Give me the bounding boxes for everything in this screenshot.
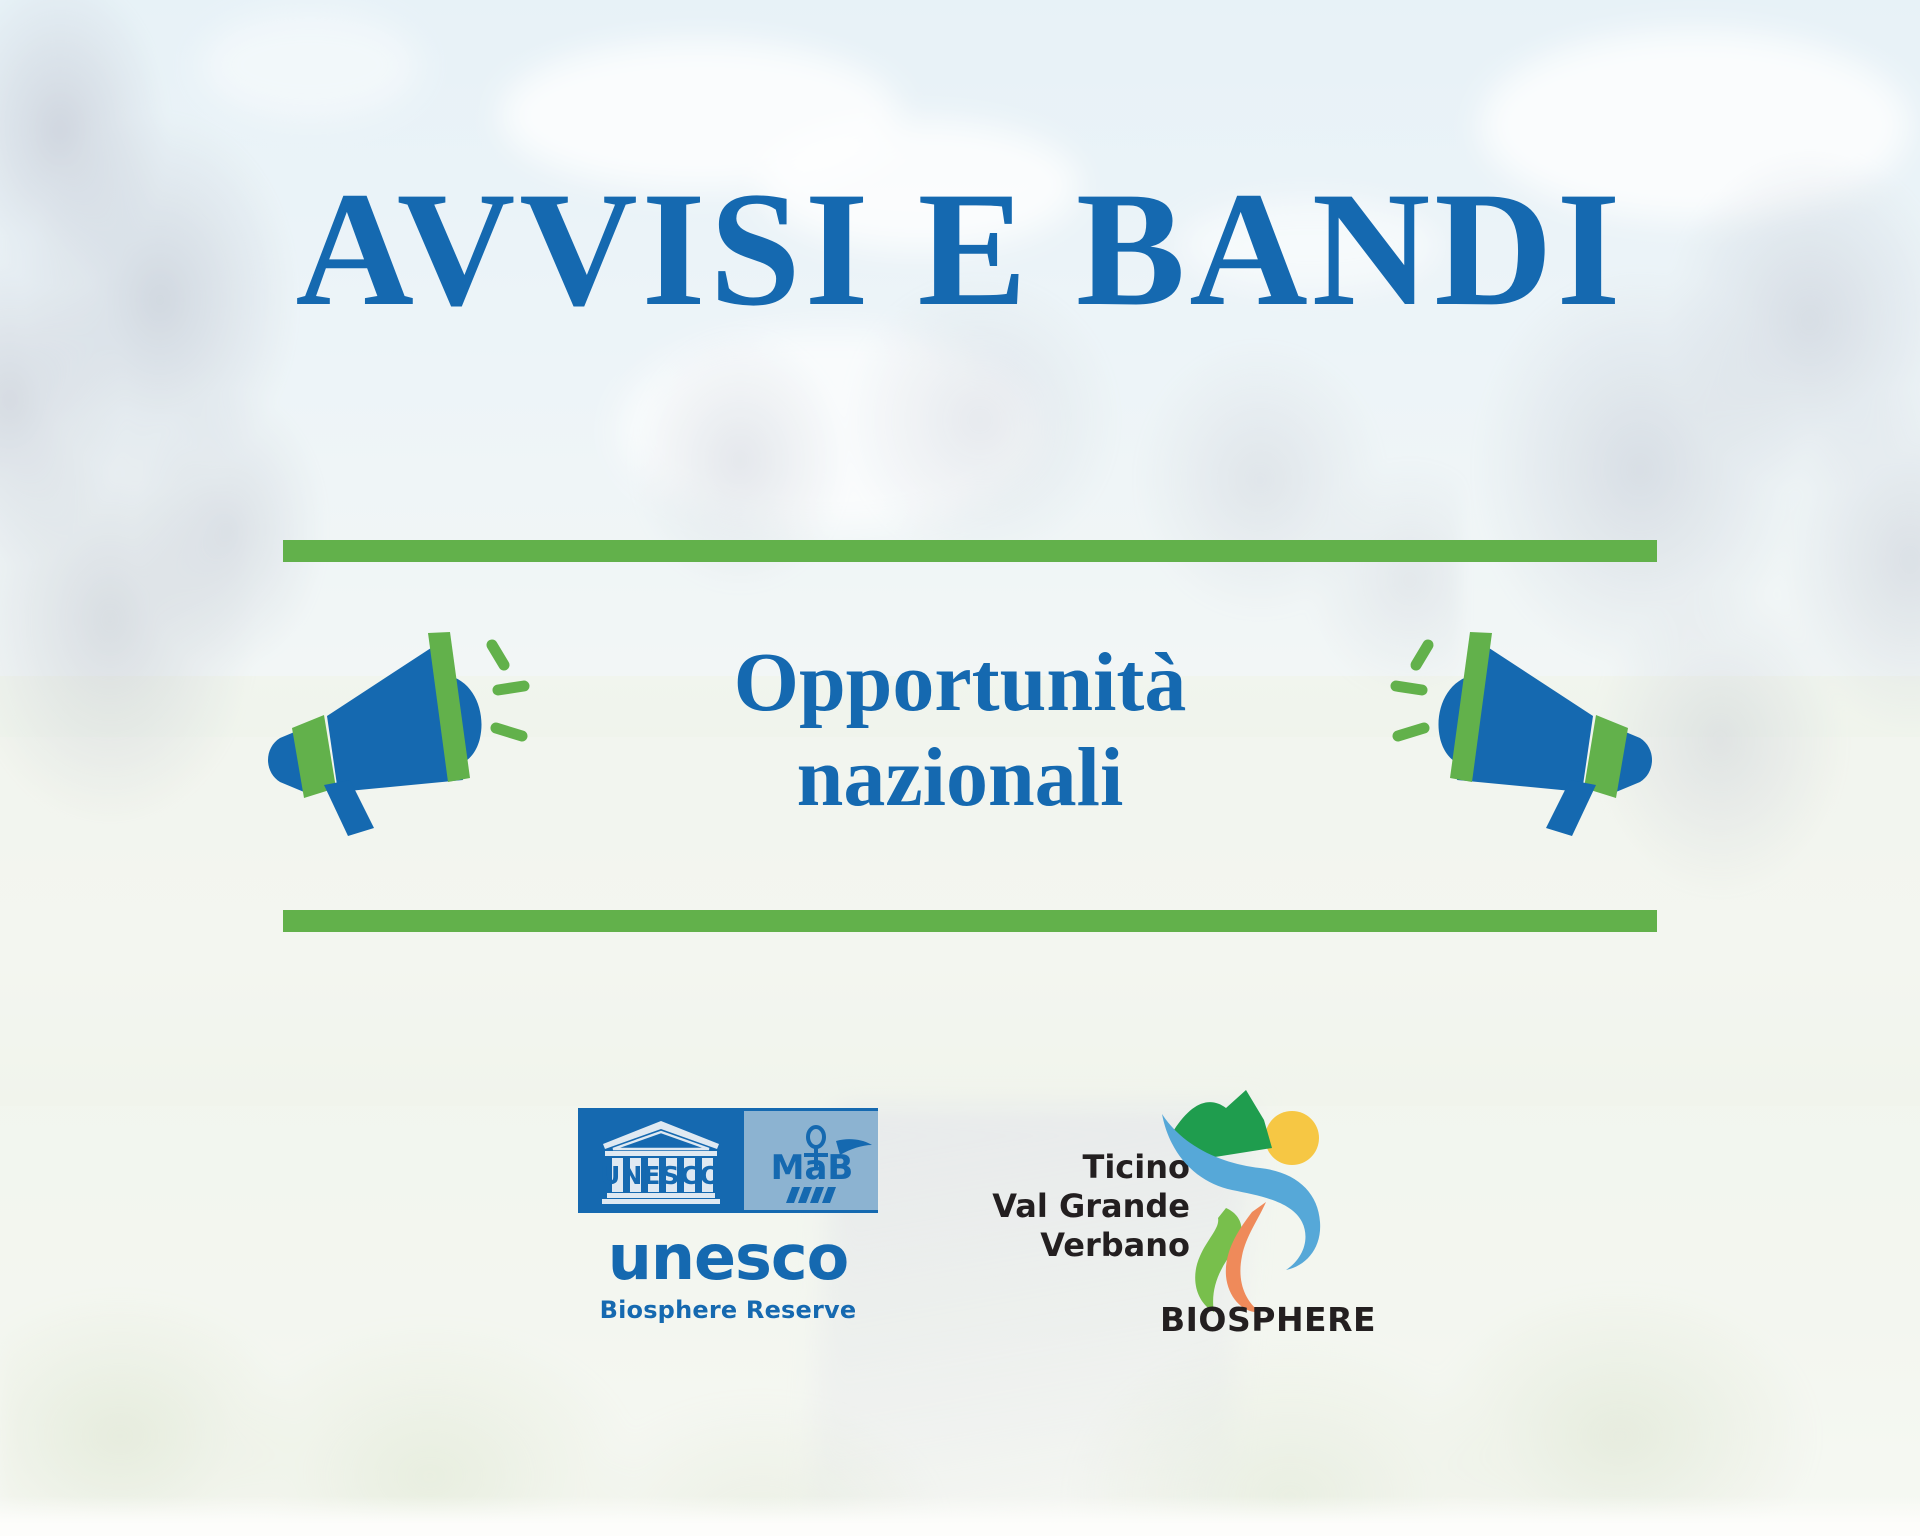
svg-text:MaB: MaB xyxy=(771,1148,854,1188)
svg-text:UNESCO: UNESCO xyxy=(600,1161,722,1190)
mab-logo: MaB xyxy=(741,1111,880,1210)
poster-canvas: AVVISI E BANDI xyxy=(0,0,1920,1536)
megaphone-icon-left xyxy=(258,620,548,845)
page-title: AVVISI E BANDI xyxy=(0,168,1920,332)
unesco-logo-box: UNESCO xyxy=(578,1108,878,1213)
logo-row: UNESCO xyxy=(0,1100,1920,1350)
green-divider-top xyxy=(283,540,1657,562)
poster-content: AVVISI E BANDI xyxy=(0,0,1920,1536)
biosphere-logo: Ticino Val Grande Verbano xyxy=(940,1100,1360,1350)
unesco-tagline: Biosphere Reserve xyxy=(578,1296,878,1324)
unesco-logo: UNESCO xyxy=(578,1108,878,1324)
unesco-temple-emblem: UNESCO xyxy=(581,1111,741,1210)
subtitle-line-2: nazionali xyxy=(600,731,1320,826)
unesco-wordmark: unesco xyxy=(578,1229,878,1288)
ticino-val-grande-verbano-mark xyxy=(1140,1090,1350,1325)
subtitle-line-1: Opportunità xyxy=(600,636,1320,731)
megaphone-icon-right xyxy=(1372,620,1662,845)
page-subtitle: Opportunità nazionali xyxy=(600,636,1320,826)
green-divider-bottom xyxy=(283,910,1657,932)
biosphere-label: BIOSPHERE xyxy=(1160,1300,1376,1339)
